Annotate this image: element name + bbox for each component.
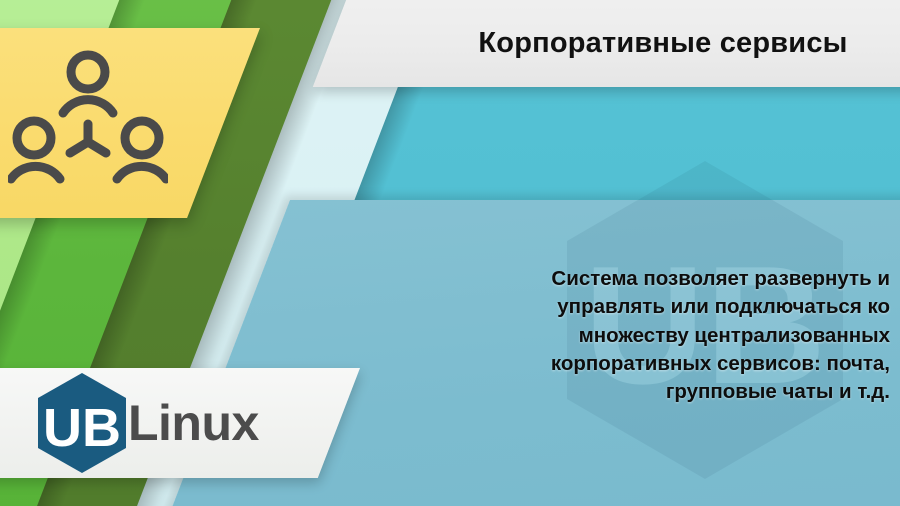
people-network-icon — [8, 46, 168, 196]
logo-wordmark: Linux — [128, 398, 259, 448]
body-text: Система позволяет развернуть и управлять… — [470, 265, 890, 406]
slide-canvas: UB — [0, 0, 900, 506]
ub-mark-text: UB — [43, 398, 121, 458]
title-band: Корпоративные сервисы — [313, 0, 900, 87]
ub-hexagon-logo-icon: UB — [34, 371, 130, 475]
page-title: Корпоративные сервисы — [472, 17, 847, 60]
icon-card — [0, 28, 260, 218]
logo-band: UB Linux — [0, 368, 360, 478]
